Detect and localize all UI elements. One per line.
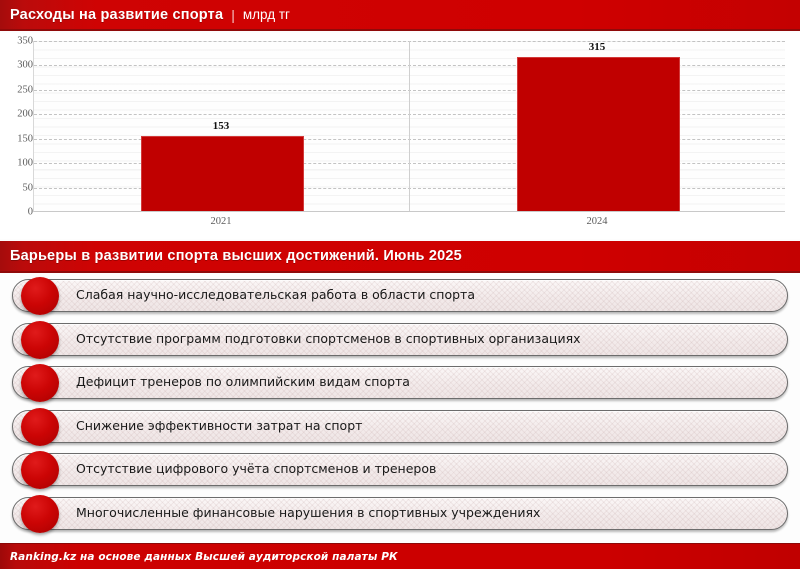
barrier-label: Слабая научно-исследовательская работа в… (76, 287, 475, 302)
x-axis-tick-label: 2024 (587, 216, 608, 227)
bullet-circle-icon (21, 451, 59, 489)
barriers-list: Слабая научно-исследовательская работа в… (0, 277, 800, 539)
y-axis-tick-label: 250 (5, 84, 33, 95)
bar-2021 (141, 136, 304, 211)
y-axis-tick-label: 150 (5, 133, 33, 144)
bullet-circle-icon (21, 277, 59, 315)
barrier-item[interactable]: Отсутствие цифрового учёта спортсменов и… (0, 451, 800, 495)
barrier-item[interactable]: Многочисленные финансовые нарушения в сп… (0, 495, 800, 539)
y-axis-tick-label: 50 (5, 182, 33, 193)
source-credit: Ranking.kz на основе данных Высшей аудит… (0, 551, 398, 563)
chart-section-title: Расходы на развитие спорта (0, 7, 223, 23)
y-axis-tick-label: 200 (5, 109, 33, 120)
y-axis-tick-label: 100 (5, 158, 33, 169)
infographic-page: Расходы на развитие спорта | млрд тг 050… (0, 0, 800, 569)
bar-chart: 050100150200250300350 153315 20212024 (0, 33, 800, 239)
barrier-label: Отсутствие цифрового учёта спортсменов и… (76, 461, 436, 476)
bullet-circle-icon (21, 495, 59, 533)
barrier-item[interactable]: Слабая научно-исследовательская работа в… (0, 277, 800, 321)
barrier-item[interactable]: Отсутствие программ подготовки спортсмен… (0, 321, 800, 365)
barrier-label: Многочисленные финансовые нарушения в сп… (76, 505, 540, 520)
bullet-circle-icon (21, 364, 59, 402)
barrier-item[interactable]: Снижение эффективности затрат на спорт (0, 408, 800, 452)
barrier-label: Отсутствие программ подготовки спортсмен… (76, 331, 581, 346)
barriers-section-header: Барьеры в развитии спорта высших достиже… (0, 241, 800, 273)
chart-unit-label: млрд тг (243, 7, 290, 22)
barrier-item[interactable]: Дефицит тренеров по олимпийским видам сп… (0, 364, 800, 408)
y-axis-tick-label: 300 (5, 60, 33, 71)
bullet-circle-icon (21, 321, 59, 359)
bar-value-label: 315 (589, 41, 606, 53)
barriers-section-title: Барьеры в развитии спорта высших достиже… (0, 248, 462, 264)
bar-value-label: 153 (213, 120, 230, 132)
footer-bar: Ranking.kz на основе данных Высшей аудит… (0, 543, 800, 569)
plot-area (33, 41, 785, 212)
category-separator (409, 41, 410, 211)
bar-2024 (517, 57, 680, 211)
x-axis-tick-label: 2021 (211, 216, 232, 227)
bullet-circle-icon (21, 408, 59, 446)
barrier-label: Снижение эффективности затрат на спорт (76, 418, 362, 433)
chart-title-separator: | (223, 7, 243, 23)
barrier-label: Дефицит тренеров по олимпийским видам сп… (76, 374, 410, 389)
chart-section-header: Расходы на развитие спорта | млрд тг (0, 0, 800, 31)
y-axis-tick-label: 350 (5, 36, 33, 47)
x-axis: 20212024 (0, 216, 800, 234)
